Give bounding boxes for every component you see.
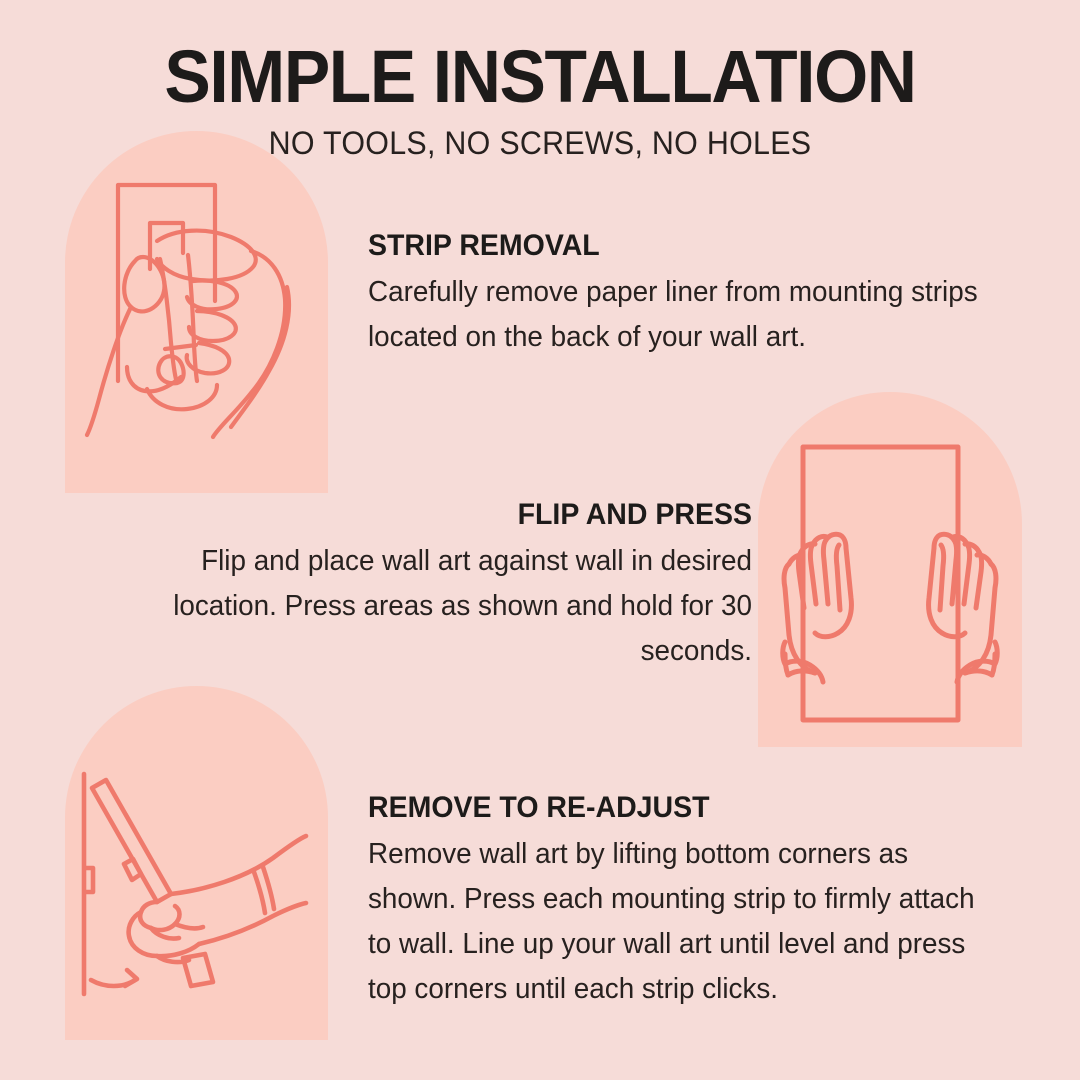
two-hands-pressing-panel-illustration	[758, 392, 1022, 747]
step-1-body: Carefully remove paper liner from mounti…	[368, 270, 982, 360]
step-1-illustration-arch	[65, 131, 328, 493]
step-2-text: FLIP AND PRESS Flip and place wall art a…	[100, 497, 752, 674]
page-title: SIMPLE INSTALLATION	[32, 38, 1047, 116]
step-2-body: Flip and place wall art against wall in …	[126, 539, 752, 674]
hand-peeling-liner-illustration	[65, 131, 328, 493]
hand-lifting-panel-illustration	[65, 686, 328, 1040]
step-1-heading: STRIP REMOVAL	[368, 228, 976, 264]
step-3-text: REMOVE TO RE-ADJUST Remove wall art by l…	[368, 790, 1016, 1012]
infographic-page: SIMPLE INSTALLATION NO TOOLS, NO SCREWS,…	[0, 0, 1080, 1080]
step-3-heading: REMOVE TO RE-ADJUST	[368, 790, 984, 826]
step-3-illustration-arch	[65, 686, 328, 1040]
step-2-illustration-arch	[758, 392, 1022, 747]
step-1-text: STRIP REMOVAL Carefully remove paper lin…	[368, 228, 1008, 360]
step-3-body: Remove wall art by lifting bottom corner…	[368, 832, 990, 1012]
step-2-heading: FLIP AND PRESS	[133, 497, 752, 533]
